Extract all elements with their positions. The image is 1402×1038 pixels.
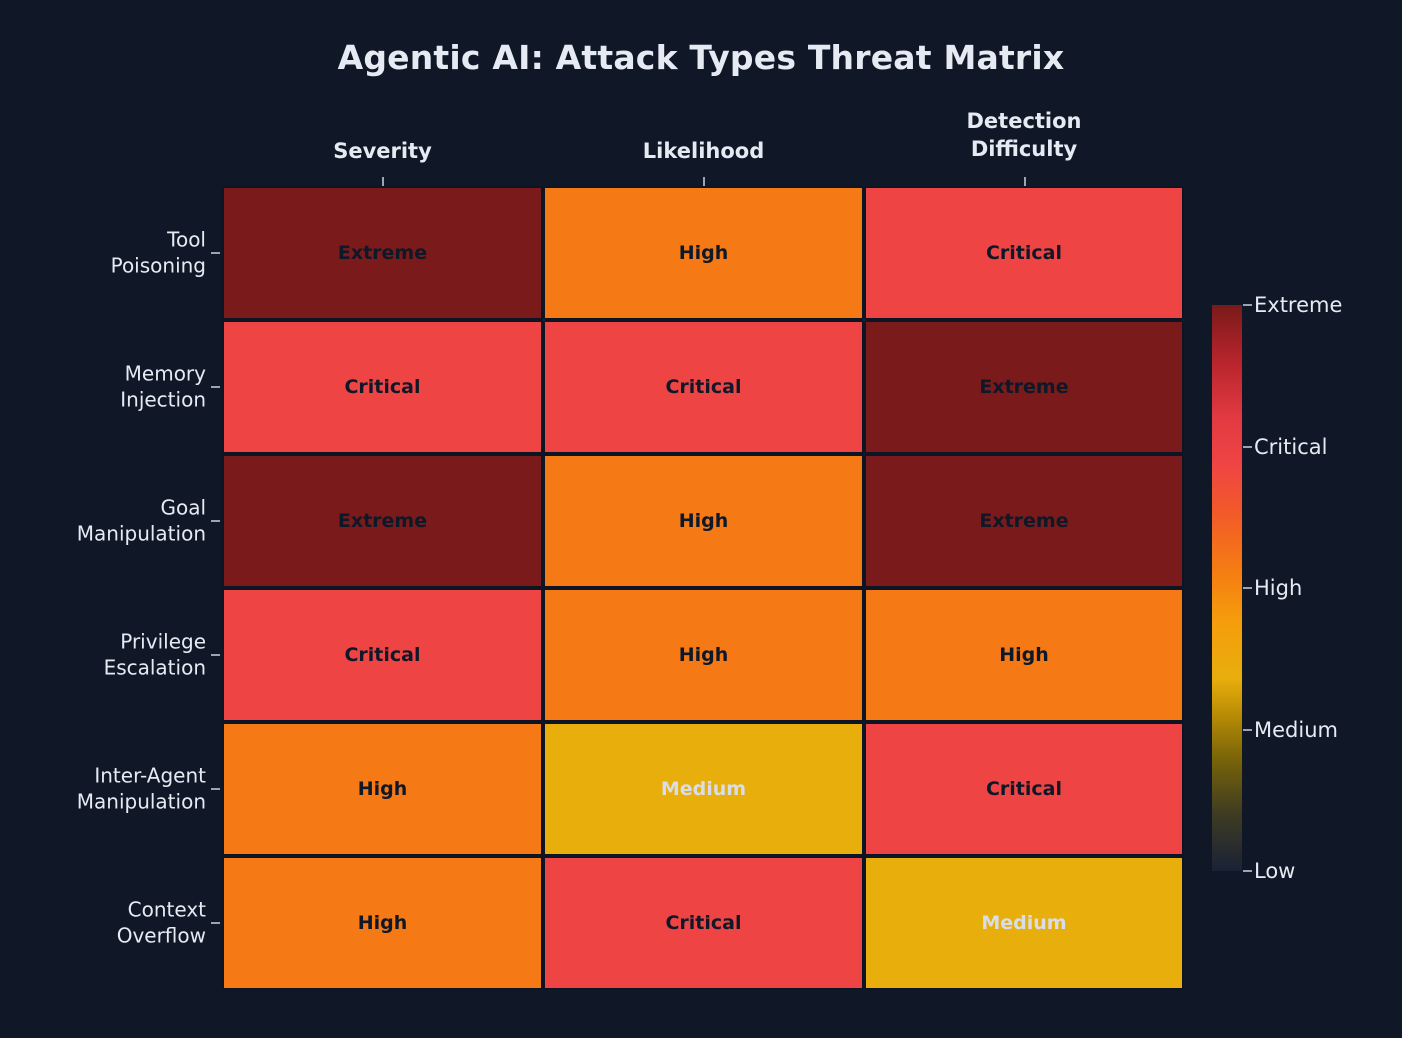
page-title: Agentic AI: Attack Types Threat Matrix	[0, 38, 1402, 77]
heatmap-cell: Critical	[543, 320, 864, 454]
row-label-0: ToolPoisoning	[0, 227, 206, 280]
heatmap-cell-label: High	[679, 242, 729, 264]
heatmap-cell: Extreme	[864, 454, 1184, 588]
column-header-likelihood: Likelihood	[543, 138, 864, 166]
colorbar-label-medium: Medium	[1254, 718, 1338, 742]
heatmap-cell: Critical	[864, 186, 1184, 320]
colorbar-label-low: Low	[1254, 859, 1295, 883]
heatmap-cell: Critical	[864, 722, 1184, 856]
heatmap-cell-label: Critical	[344, 644, 420, 666]
row-label-4: Inter-AgentManipulation	[0, 763, 206, 816]
row-label-2: GoalManipulation	[0, 495, 206, 548]
heatmap-cell-label: High	[679, 644, 729, 666]
row-label-5: ContextOverflow	[0, 897, 206, 950]
y-axis-tick-2	[211, 520, 220, 522]
heatmap-cell: High	[222, 722, 543, 856]
colorbar-tick-low	[1243, 870, 1252, 872]
heatmap-cell-label: High	[358, 778, 408, 800]
colorbar-gradient	[1212, 305, 1242, 871]
heatmap-cell: High	[222, 856, 543, 990]
heatmap-cell-label: Critical	[344, 376, 420, 398]
colorbar	[1212, 305, 1242, 871]
heatmap-cell-label: Extreme	[979, 510, 1068, 532]
heatmap-cell-label: Extreme	[338, 510, 427, 532]
colorbar-tick-critical	[1243, 446, 1252, 448]
heatmap-cell: Medium	[543, 722, 864, 856]
row-label-1: MemoryInjection	[0, 361, 206, 414]
colorbar-tick-high	[1243, 587, 1252, 589]
column-header-severity: Severity	[222, 138, 543, 166]
heatmap-plot-area: ExtremeHighCriticalCriticalCriticalExtre…	[222, 186, 1184, 990]
colorbar-label-critical: Critical	[1254, 435, 1327, 459]
y-axis-tick-4	[211, 788, 220, 790]
colorbar-tick-medium	[1243, 729, 1252, 731]
heatmap-cell-label: High	[358, 912, 408, 934]
heatmap-cell-label: High	[679, 510, 729, 532]
heatmap-cell-label: Medium	[981, 912, 1066, 934]
y-axis-tick-3	[211, 654, 220, 656]
column-header-detection-difficulty: DetectionDifficulty	[864, 108, 1184, 163]
y-axis-tick-5	[211, 922, 220, 924]
row-label-3: PrivilegeEscalation	[0, 629, 206, 682]
heatmap-cell: High	[543, 588, 864, 722]
y-axis-tick-0	[211, 252, 220, 254]
heatmap-cell: High	[864, 588, 1184, 722]
heatmap-cell-label: Medium	[661, 778, 746, 800]
heatmap-cell: Extreme	[864, 320, 1184, 454]
heatmap-cell-label: Critical	[665, 912, 741, 934]
heatmap-cell-label: High	[999, 644, 1049, 666]
x-axis-tick-severity	[382, 177, 384, 186]
y-axis-tick-1	[211, 386, 220, 388]
heatmap-cell: Medium	[864, 856, 1184, 990]
heatmap-cell-label: Extreme	[979, 376, 1068, 398]
colorbar-label-high: High	[1254, 576, 1302, 600]
heatmap-cell: High	[543, 186, 864, 320]
heatmap-cell: Critical	[222, 588, 543, 722]
colorbar-label-extreme: Extreme	[1254, 293, 1342, 317]
heatmap-cell: Critical	[222, 320, 543, 454]
heatmap-cell: Extreme	[222, 454, 543, 588]
x-axis-tick-likelihood	[703, 177, 705, 186]
heatmap-cell-label: Critical	[986, 778, 1062, 800]
heatmap-cell-label: Critical	[986, 242, 1062, 264]
heatmap-cell-label: Critical	[665, 376, 741, 398]
heatmap-cell: High	[543, 454, 864, 588]
colorbar-tick-extreme	[1243, 304, 1252, 306]
heatmap-cell: Extreme	[222, 186, 543, 320]
x-axis-tick-detection-difficulty	[1024, 177, 1026, 186]
heatmap-cell-label: Extreme	[338, 242, 427, 264]
heatmap-grid: ExtremeHighCriticalCriticalCriticalExtre…	[222, 186, 1184, 990]
heatmap-cell: Critical	[543, 856, 864, 990]
